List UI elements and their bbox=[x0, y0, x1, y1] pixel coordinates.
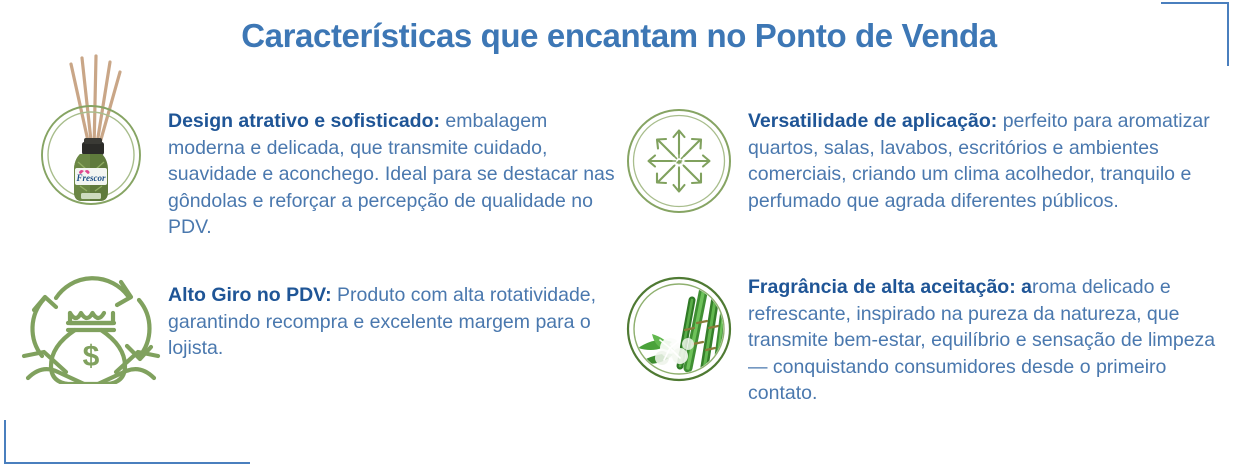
feature-card-turnover: $ Alto Giro no PDV: Produto com alta rot… bbox=[16, 270, 616, 382]
feature-text-fragrance: Fragrância de alta aceitação: aroma deli… bbox=[748, 268, 1222, 407]
feature-text-versatility: Versatilidade de aplicação: perfeito par… bbox=[748, 98, 1222, 214]
feature-text-design: Design atrativo e sofisticado: embalagem… bbox=[168, 92, 616, 241]
feature-text-turnover: Alto Giro no PDV: Produto com alta rotat… bbox=[168, 270, 616, 362]
svg-text:Frescor: Frescor bbox=[76, 173, 106, 183]
feature-card-design: Frescor Design atrativo e sofisticado: e… bbox=[16, 92, 616, 241]
money-bag-rotation-hand-icon: $ bbox=[18, 272, 168, 382]
currency-symbol: $ bbox=[83, 340, 100, 373]
page-title: Características que encantam no Ponto de… bbox=[0, 16, 1238, 56]
feature-lead-design: Design atrativo e sofisticado: bbox=[168, 110, 440, 132]
reed-diffuser-bottle-icon: Frescor bbox=[16, 50, 166, 210]
multi-direction-arrows-icon bbox=[618, 102, 746, 222]
feature-lead-turnover: Alto Giro no PDV: bbox=[168, 284, 332, 306]
feature-card-fragrance: Fragrância de alta aceitação: aroma deli… bbox=[612, 268, 1222, 407]
feature-lead-fragrance: Fragrância de alta aceitação: a bbox=[748, 276, 1032, 298]
bamboo-stalks-icon bbox=[618, 270, 746, 390]
feature-lead-versatility: Versatilidade de aplicação: bbox=[748, 110, 997, 132]
feature-card-versatility: Versatilidade de aplicação: perfeito par… bbox=[612, 98, 1222, 222]
feature-grid: Frescor Design atrativo e sofisticado: e… bbox=[0, 78, 1238, 469]
